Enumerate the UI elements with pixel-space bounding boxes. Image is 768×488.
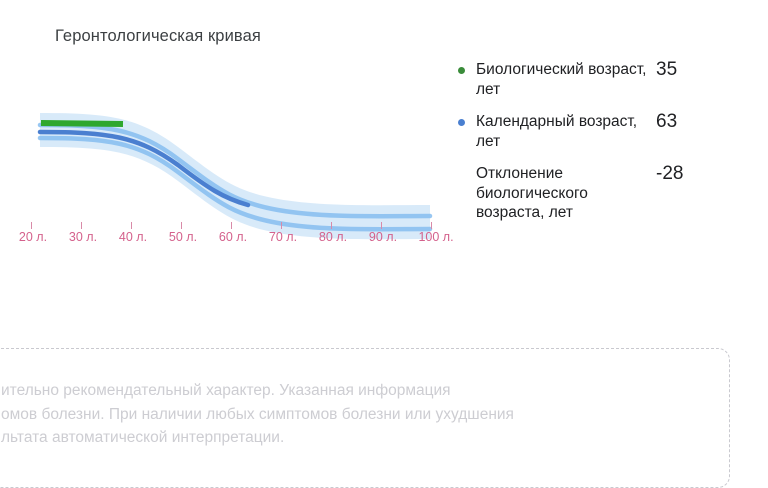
x-axis-label: 20 л. bbox=[19, 230, 47, 244]
x-axis-label: 50 л. bbox=[169, 230, 197, 244]
gerontology-chart-card: Геронтологическая кривая 20 л. 30 л. 40 bbox=[0, 0, 768, 330]
legend-bullet-blue bbox=[458, 119, 465, 126]
disclaimer-box: ительно рекомендательный характер. Указа… bbox=[0, 348, 730, 488]
x-axis-label: 80 л. bbox=[319, 230, 347, 244]
x-axis-label: 90 л. bbox=[369, 230, 397, 244]
x-tick bbox=[281, 222, 282, 229]
x-tick bbox=[381, 222, 382, 229]
legend-value-deviation: -28 bbox=[648, 164, 753, 184]
x-axis-label: 40 л. bbox=[119, 230, 147, 244]
disclaimer-text: ительно рекомендательный характер. Указа… bbox=[1, 379, 717, 450]
legend-row-calendar-age: Календарный возраст, лет 63 bbox=[458, 112, 753, 151]
x-tick bbox=[131, 222, 132, 229]
legend-label-biological-age: Биологический возраст, лет bbox=[476, 60, 648, 99]
x-tick bbox=[231, 222, 232, 229]
x-axis-label: 60 л. bbox=[219, 230, 247, 244]
x-tick bbox=[331, 222, 332, 229]
page-title: Геронтологическая кривая bbox=[55, 27, 261, 46]
legend-row-deviation: Отклонение биологического возраста, лет … bbox=[458, 164, 753, 223]
legend-value-biological-age: 35 bbox=[648, 60, 753, 80]
reference-band bbox=[40, 113, 430, 239]
x-axis-label: 70 л. bbox=[269, 230, 297, 244]
biological-age-segment bbox=[41, 123, 123, 124]
legend-row-biological-age: Биологический возраст, лет 35 bbox=[458, 60, 753, 99]
legend-label-calendar-age: Календарный возраст, лет bbox=[476, 112, 648, 151]
x-tick bbox=[81, 222, 82, 229]
chart-legend: Биологический возраст, лет 35 Календарны… bbox=[458, 60, 753, 236]
legend-value-calendar-age: 63 bbox=[648, 112, 753, 132]
legend-bullet-green bbox=[458, 67, 465, 74]
x-axis: 20 л. 30 л. 40 л. 50 л. 60 л. 70 л. 80 л… bbox=[0, 222, 448, 262]
x-axis-label: 30 л. bbox=[69, 230, 97, 244]
x-tick bbox=[181, 222, 182, 229]
legend-bullet-spacer bbox=[458, 171, 465, 178]
legend-label-deviation: Отклонение биологического возраста, лет bbox=[476, 164, 648, 223]
x-tick bbox=[31, 222, 32, 229]
x-tick bbox=[431, 222, 432, 229]
x-axis-label: 100 л. bbox=[418, 230, 453, 244]
